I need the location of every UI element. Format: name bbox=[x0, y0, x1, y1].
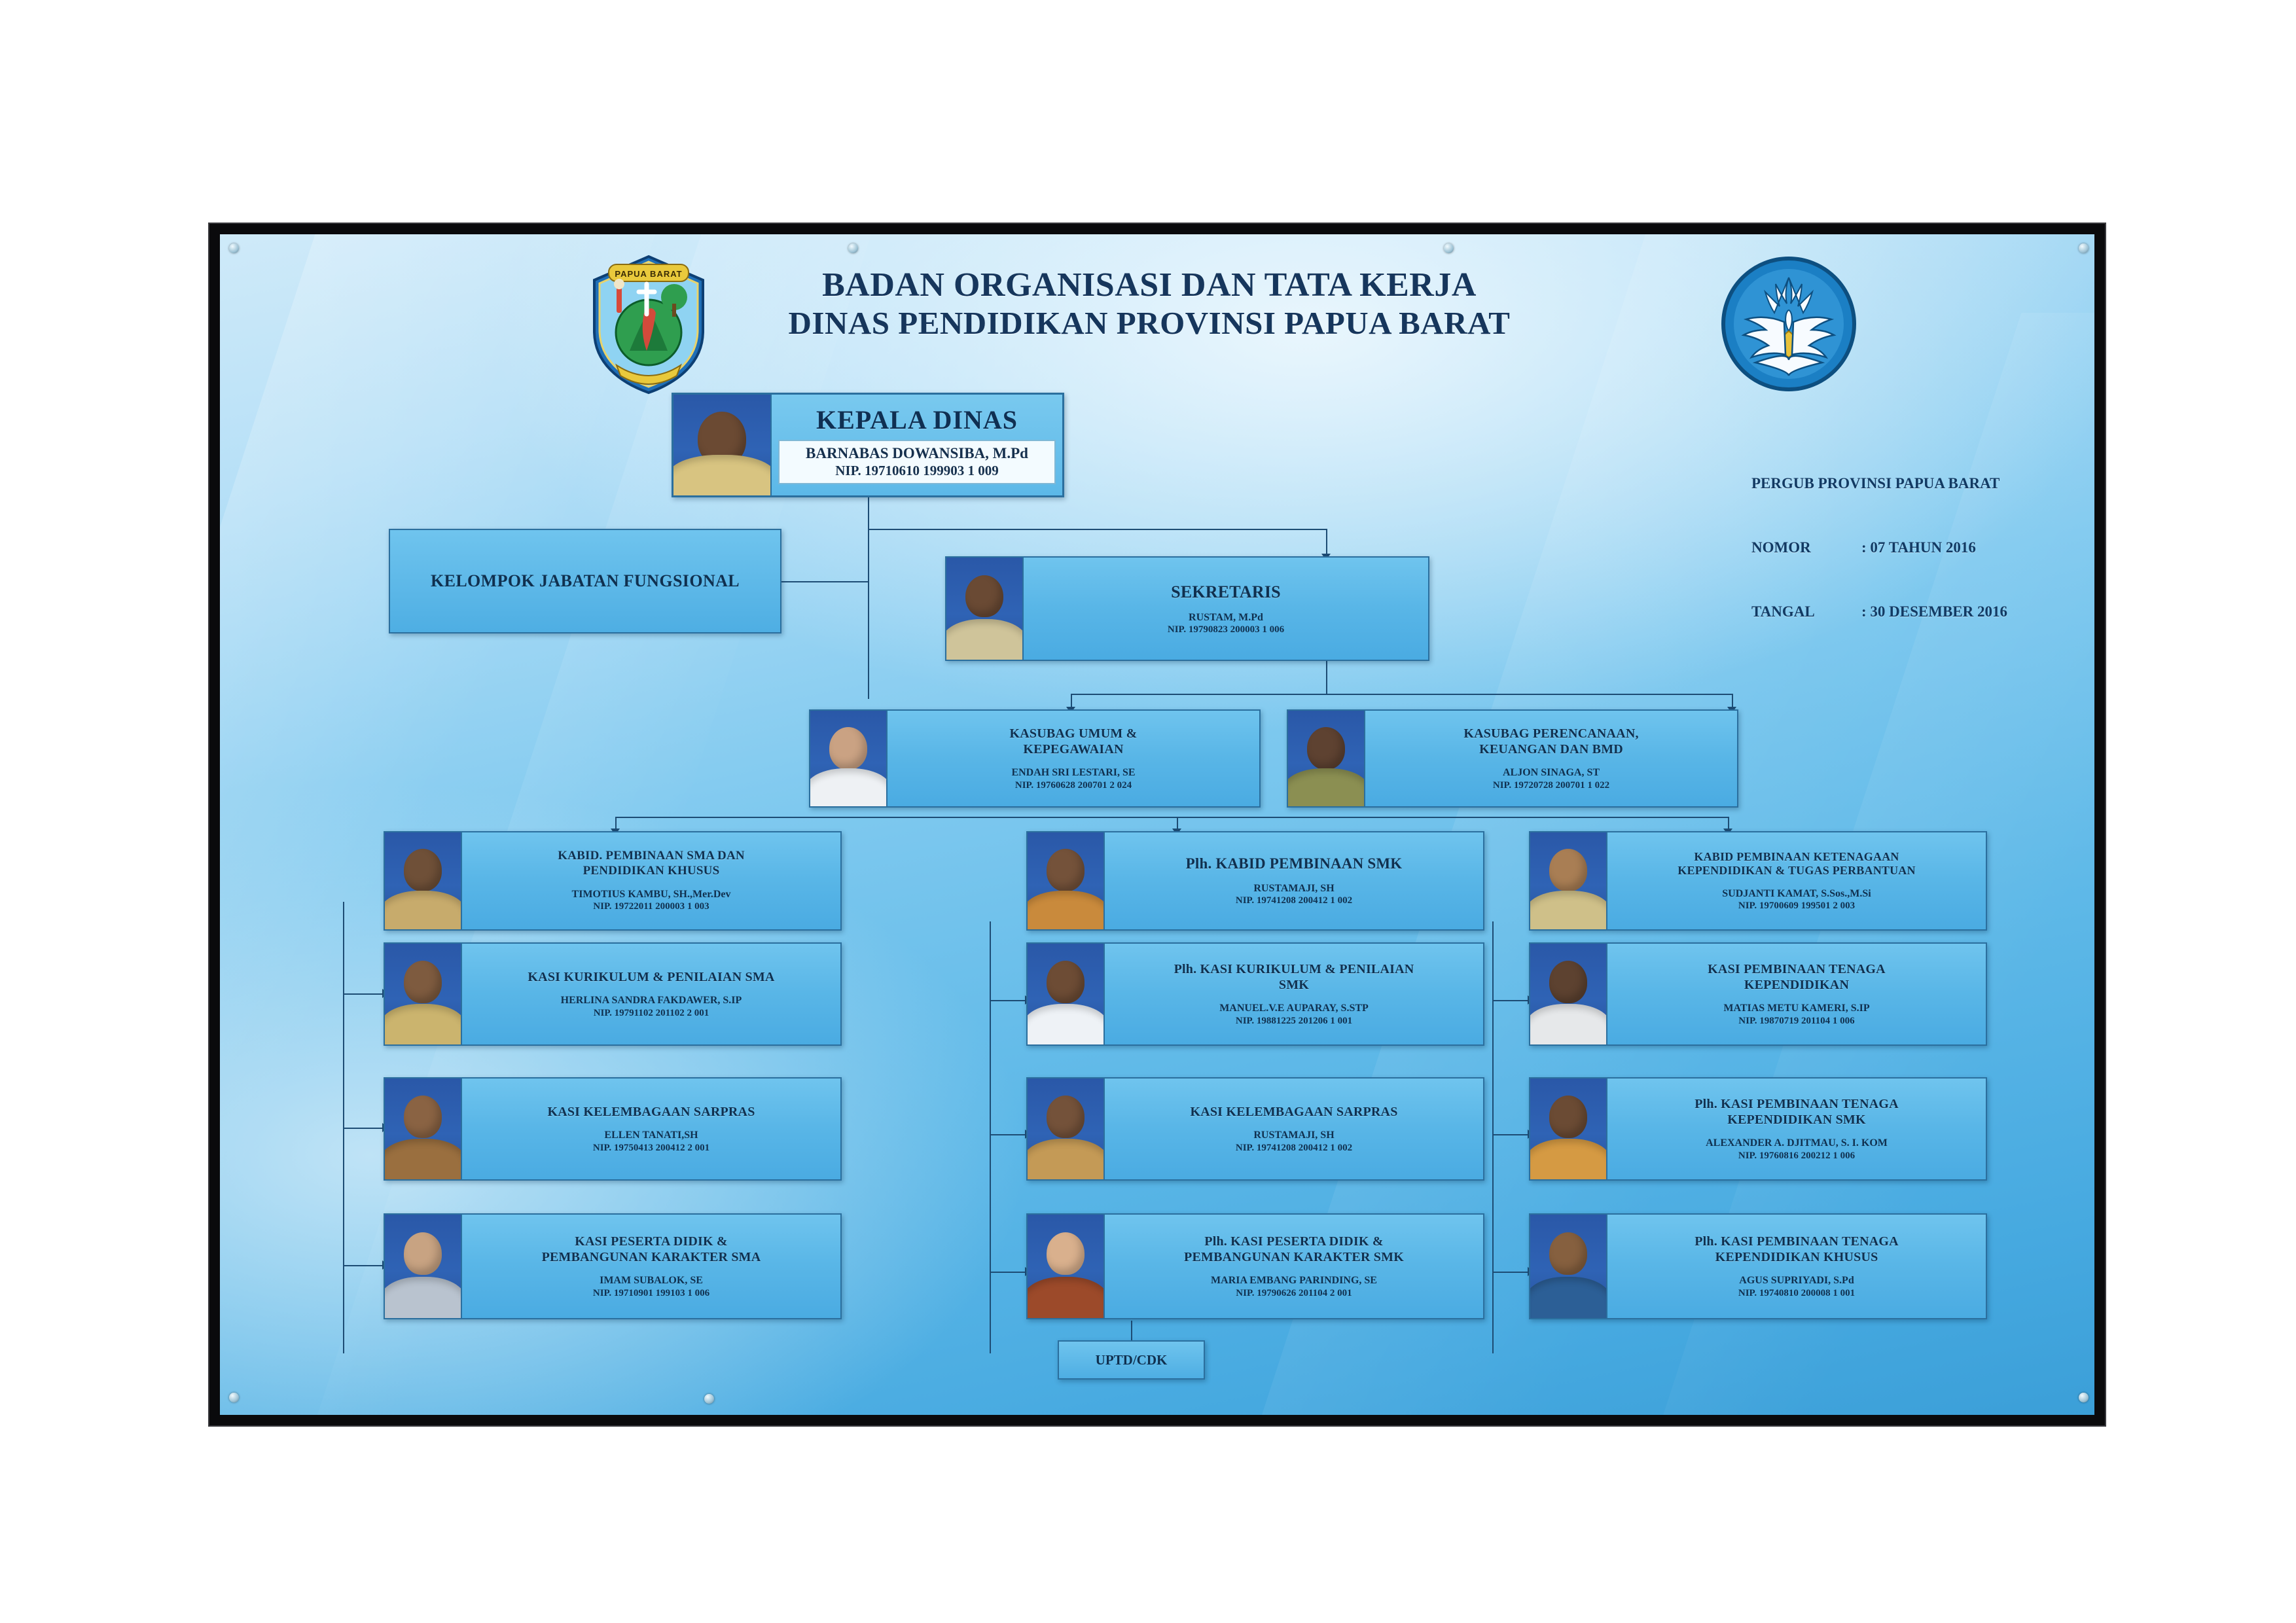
node-person: RUSTAM, M.Pd bbox=[1030, 611, 1422, 624]
node-title: KELOMPOK JABATAN FUNGSIONAL bbox=[431, 571, 740, 591]
node-kasi-pembinaan-tenaga-kependidikan-khusus[interactable]: Plh. KASI PEMBINAAN TENAGA KEPENDIDIKAN … bbox=[1529, 1213, 1987, 1319]
node-person: ELLEN TANATI,SH bbox=[469, 1129, 834, 1142]
node-person: ENDAH SRI LESTARI, SE bbox=[894, 766, 1253, 779]
connector-right-branch-3 bbox=[1492, 1272, 1529, 1273]
banner-grommet bbox=[704, 1394, 714, 1404]
decree-tangal-label: TANGAL bbox=[1751, 601, 1861, 623]
node-title: KASUBAG UMUM & KEPEGAWAIAN bbox=[894, 726, 1253, 757]
node-person: RUSTAMAJI, SH bbox=[1111, 1129, 1477, 1142]
node-title: UPTD/CDK bbox=[1096, 1352, 1168, 1368]
node-person: ALJON SINAGA, ST bbox=[1372, 766, 1731, 779]
node-nip: NIP. 19722011 200003 1 003 bbox=[469, 901, 834, 912]
decree-line-1: PERGUB PROVINSI PAPUA BARAT bbox=[1751, 473, 2007, 495]
node-title: KEPALA DINAS bbox=[778, 404, 1056, 436]
node-title: KASI KELEMBAGAAN SARPRAS bbox=[1111, 1104, 1477, 1120]
node-title: SEKRETARIS bbox=[1030, 582, 1422, 602]
banner-grommet bbox=[229, 1393, 239, 1402]
node-person: MANUEL.V.E AUPARAY, S.STP bbox=[1111, 1002, 1477, 1015]
node-kabid-pembinaan-smk[interactable]: Plh. KABID PEMBINAAN SMK RUSTAMAJI, SH N… bbox=[1026, 831, 1484, 931]
connector-left-branch-3 bbox=[343, 1265, 384, 1266]
node-sekretaris[interactable]: SEKRETARIS RUSTAM, M.Pd NIP. 19790823 20… bbox=[945, 556, 1429, 661]
connector-right-branch-2 bbox=[1492, 1134, 1529, 1135]
connector-left-branch-1 bbox=[343, 993, 384, 995]
node-nip: NIP. 19870719 201104 1 006 bbox=[1614, 1015, 1979, 1027]
banner-photo-frame: PAPUA BARAT BADAN ORGANISASI DAN T bbox=[208, 223, 2106, 1427]
node-nip: NIP. 19710901 199103 1 006 bbox=[469, 1287, 834, 1299]
node-kasi-pembinaan-tenaga-kependidikan-smk[interactable]: Plh. KASI PEMBINAAN TENAGA KEPENDIDIKAN … bbox=[1529, 1077, 1987, 1181]
banner-grommet bbox=[1444, 243, 1454, 253]
node-nip: NIP. 19720728 200701 1 022 bbox=[1372, 779, 1731, 791]
banner-grommet bbox=[229, 243, 239, 253]
node-kasubag-perencanaan-keuangan-bmd[interactable]: KASUBAG PERENCANAAN, KEUANGAN DAN BMD AL… bbox=[1287, 709, 1738, 808]
node-kepala-dinas[interactable]: KEPALA DINAS BARNABAS DOWANSIBA, M.Pd NI… bbox=[672, 393, 1064, 497]
node-person: BARNABAS DOWANSIBA, M.Pd bbox=[785, 444, 1049, 463]
node-person: ALEXANDER A. DJITMAU, S. I. KOM bbox=[1614, 1137, 1979, 1150]
node-person: SUDJANTI KAMAT, S.Sos.,M.Si bbox=[1614, 887, 1979, 901]
node-title: KASI PEMBINAAN TENAGA KEPENDIDIKAN bbox=[1614, 961, 1979, 993]
connector-right-branch-1 bbox=[1492, 1000, 1529, 1001]
node-kasubag-umum-kepegawaian[interactable]: KASUBAG UMUM & KEPEGAWAIAN ENDAH SRI LES… bbox=[809, 709, 1261, 808]
banner-grommet bbox=[2079, 243, 2089, 253]
node-person: AGUS SUPRIYADI, S.Pd bbox=[1614, 1274, 1979, 1287]
connector-left-branch-2 bbox=[343, 1128, 384, 1129]
node-nip: NIP. 19710610 199903 1 009 bbox=[785, 463, 1049, 480]
node-title: Plh. KASI PEMBINAAN TENAGA KEPENDIDIKAN … bbox=[1614, 1096, 1979, 1128]
node-person: RUSTAMAJI, SH bbox=[1111, 882, 1477, 895]
node-kasi-peserta-didik-karakter-sma[interactable]: KASI PESERTA DIDIK & PEMBANGUNAN KARAKTE… bbox=[384, 1213, 842, 1319]
node-kelompok-jabatan-fungsional[interactable]: KELOMPOK JABATAN FUNGSIONAL bbox=[389, 529, 781, 633]
node-nip: NIP. 19790626 201104 2 001 bbox=[1111, 1287, 1477, 1299]
connector-sekretaris-drop bbox=[1326, 529, 1327, 556]
node-title: KABID PEMBINAAN KETENAGAAN KEPENDIDIKAN … bbox=[1614, 850, 1979, 878]
avatar-kepala-dinas bbox=[673, 395, 772, 495]
node-kasi-pembinaan-tenaga-kependidikan[interactable]: KASI PEMBINAAN TENAGA KEPENDIDIKAN MATIA… bbox=[1529, 942, 1987, 1046]
node-person: MATIAS METU KAMERI, S.IP bbox=[1614, 1002, 1979, 1015]
title-line-1: BADAN ORGANISASI DAN TATA KERJA bbox=[704, 266, 1594, 305]
node-kabid-pembinaan-ketenagaan[interactable]: KABID PEMBINAAN KETENAGAAN KEPENDIDIKAN … bbox=[1529, 831, 1987, 931]
node-title: KABID. PEMBINAAN SMA DAN PENDIDIKAN KHUS… bbox=[469, 849, 834, 879]
node-nip: NIP. 19881225 201206 1 001 bbox=[1111, 1015, 1477, 1027]
node-person: TIMOTIUS KAMBU, SH.,Mer.Dev bbox=[469, 888, 834, 901]
node-kabid-pembinaan-sma[interactable]: KABID. PEMBINAAN SMA DAN PENDIDIKAN KHUS… bbox=[384, 831, 842, 931]
node-title: KASI KURIKULUM & PENILAIAN SMA bbox=[469, 969, 834, 985]
connector-mid-branch-2 bbox=[990, 1134, 1026, 1135]
tut-wuri-handayani-logo-icon bbox=[1719, 254, 1859, 395]
node-nip: NIP. 19750413 200412 2 001 bbox=[469, 1142, 834, 1154]
node-nip: NIP. 19760628 200701 2 024 bbox=[894, 779, 1253, 791]
node-person: IMAM SUBALOK, SE bbox=[469, 1274, 834, 1287]
connector-kepala-spine bbox=[868, 581, 869, 699]
banner-grommet bbox=[848, 243, 858, 253]
avatar-kasi-tenaga-khusus bbox=[1530, 1215, 1607, 1318]
decree-nomor-value: : 07 TAHUN 2016 bbox=[1861, 539, 1976, 556]
avatar-kabid-sma bbox=[385, 832, 462, 929]
node-title: KASI KELEMBAGAAN SARPRAS bbox=[469, 1104, 834, 1120]
avatar-kasi-tenaga bbox=[1530, 944, 1607, 1044]
node-kasi-kurikulum-penilaian-sma[interactable]: KASI KURIKULUM & PENILAIAN SMA HERLINA S… bbox=[384, 942, 842, 1046]
page-title: BADAN ORGANISASI DAN TATA KERJA DINAS PE… bbox=[704, 266, 1594, 342]
banner-grommet bbox=[2079, 1393, 2089, 1402]
connector-mid-rail bbox=[990, 921, 991, 1353]
connector-kasubag-bus bbox=[1071, 694, 1732, 695]
connector-right-rail bbox=[1492, 921, 1494, 1353]
node-kasi-kelembagaan-sarpras-sma[interactable]: KASI KELEMBAGAAN SARPRAS ELLEN TANATI,SH… bbox=[384, 1077, 842, 1181]
node-title: Plh. KASI PEMBINAAN TENAGA KEPENDIDIKAN … bbox=[1614, 1234, 1979, 1265]
node-nip: NIP. 19700609 199501 2 003 bbox=[1614, 900, 1979, 912]
connector-mid-branch-3 bbox=[990, 1272, 1026, 1273]
node-nip: NIP. 19741208 200412 1 002 bbox=[1111, 1142, 1477, 1154]
connector-kepala-stem bbox=[868, 497, 869, 581]
connector-mid-branch-1 bbox=[990, 1000, 1026, 1001]
node-nip: NIP. 19790823 200003 1 006 bbox=[1030, 624, 1422, 635]
connector-kepala-to-sekretaris bbox=[868, 529, 1326, 530]
avatar-kasi-kelembagaan-sma bbox=[385, 1079, 462, 1179]
avatar-kabid-smk bbox=[1028, 832, 1105, 929]
avatar-kasi-peserta-sma bbox=[385, 1215, 462, 1318]
node-title: KASI PESERTA DIDIK & PEMBANGUNAN KARAKTE… bbox=[469, 1234, 834, 1265]
connector-uptd-stem bbox=[1131, 1321, 1132, 1340]
node-kasi-kelembagaan-sarpras-smk[interactable]: KASI KELEMBAGAAN SARPRAS RUSTAMAJI, SH N… bbox=[1026, 1077, 1484, 1181]
node-nip: NIP. 19741208 200412 1 002 bbox=[1111, 895, 1477, 906]
decree-nomor-label: NOMOR bbox=[1751, 537, 1861, 559]
avatar-kasi-kurikulum-sma bbox=[385, 944, 462, 1044]
node-nip: NIP. 19740810 200008 1 001 bbox=[1614, 1287, 1979, 1299]
title-line-2: DINAS PENDIDIKAN PROVINSI PAPUA BARAT bbox=[704, 305, 1594, 342]
node-nip: NIP. 19760816 200212 1 006 bbox=[1614, 1150, 1979, 1162]
avatar-kasubag-umum bbox=[810, 711, 888, 806]
node-person: MARIA EMBANG PARINDING, SE bbox=[1111, 1274, 1477, 1287]
org-chart-banner: PAPUA BARAT BADAN ORGANISASI DAN T bbox=[220, 234, 2094, 1415]
node-uptd-cdk[interactable]: UPTD/CDK bbox=[1058, 1340, 1205, 1380]
node-title: KASUBAG PERENCANAAN, KEUANGAN DAN BMD bbox=[1372, 726, 1731, 757]
node-nip: NIP. 19791102 201102 2 001 bbox=[469, 1007, 834, 1019]
node-title: Plh. KABID PEMBINAAN SMK bbox=[1111, 855, 1477, 873]
avatar-kasi-peserta-smk bbox=[1028, 1215, 1105, 1318]
node-kasi-peserta-didik-karakter-smk[interactable]: Plh. KASI PESERTA DIDIK & PEMBANGUNAN KA… bbox=[1026, 1213, 1484, 1319]
node-title: Plh. KASI KURIKULUM & PENILAIAN SMK bbox=[1111, 961, 1477, 993]
node-title: Plh. KASI PESERTA DIDIK & PEMBANGUNAN KA… bbox=[1111, 1234, 1477, 1265]
decree-tangal-value: : 30 DESEMBER 2016 bbox=[1861, 603, 2007, 620]
node-person: HERLINA SANDRA FAKDAWER, S.IP bbox=[469, 994, 834, 1007]
node-kasi-kurikulum-penilaian-smk[interactable]: Plh. KASI KURIKULUM & PENILAIAN SMK MANU… bbox=[1026, 942, 1484, 1046]
avatar-kasi-tenaga-smk bbox=[1530, 1079, 1607, 1179]
avatar-kasubag-perencanaan bbox=[1288, 711, 1365, 806]
connector-bidang-bus bbox=[615, 817, 1728, 818]
avatar-kasi-kelembagaan-smk bbox=[1028, 1079, 1105, 1179]
avatar-kasi-kurikulum-smk bbox=[1028, 944, 1105, 1044]
decree-reference: PERGUB PROVINSI PAPUA BARAT NOMOR: 07 TA… bbox=[1751, 431, 2007, 666]
connector-sekretaris-stem bbox=[1326, 661, 1327, 694]
svg-text:PAPUA BARAT: PAPUA BARAT bbox=[615, 269, 682, 279]
avatar-sekretaris bbox=[946, 558, 1024, 660]
avatar-kabid-ketenagaan bbox=[1530, 832, 1607, 929]
papua-barat-coat-of-arms-icon: PAPUA BARAT bbox=[586, 253, 711, 397]
